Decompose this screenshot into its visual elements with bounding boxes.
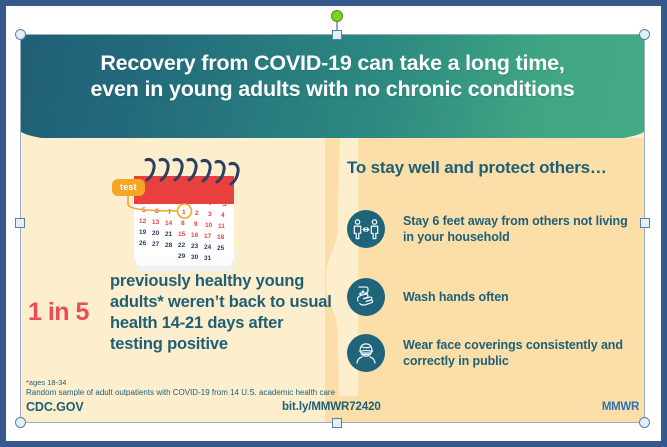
- left-column: test: [20, 138, 340, 422]
- svg-text:2: 2: [195, 210, 199, 217]
- calendar-illustration: test: [106, 152, 266, 284]
- header-line-2: even in young adults with no chronic con…: [32, 76, 633, 102]
- svg-text:F: F: [209, 200, 214, 207]
- footnote-ages: *ages 18-34: [26, 378, 356, 388]
- stat-number: 1 in 5: [28, 298, 89, 327]
- svg-text:30: 30: [191, 254, 199, 261]
- svg-text:3: 3: [208, 211, 212, 218]
- application-window: Recovery from COVID-19 can take a long t…: [0, 0, 667, 447]
- page-title: Recovery from COVID-19 can take a long t…: [20, 50, 645, 102]
- resize-handle-top-left[interactable]: [15, 29, 26, 40]
- resize-handle-bottom-left[interactable]: [15, 417, 26, 428]
- selection-edge-right: [644, 34, 645, 423]
- tip-face-covering-text: Wear face coverings consistently and cor…: [403, 337, 641, 370]
- svg-text:7: 7: [168, 209, 172, 216]
- svg-text:23: 23: [191, 243, 199, 250]
- resize-handle-bottom-center[interactable]: [332, 418, 342, 428]
- svg-text:9: 9: [194, 221, 198, 228]
- svg-text:19: 19: [139, 229, 147, 236]
- resize-handle-bottom-right[interactable]: [639, 417, 650, 428]
- header-line-1: Recovery from COVID-19 can take a long t…: [100, 51, 564, 75]
- calendar-icon: SMT WTF S 12 34 567 89 1: [106, 152, 266, 284]
- svg-text:6: 6: [155, 208, 159, 215]
- resize-handle-middle-right[interactable]: [640, 218, 650, 228]
- svg-text:20: 20: [152, 230, 160, 237]
- body-area: test: [20, 138, 645, 422]
- tip-face-covering: Wear face coverings consistently and cor…: [347, 334, 641, 372]
- svg-text:25: 25: [217, 245, 225, 252]
- svg-text:S: S: [222, 201, 227, 208]
- svg-text:13: 13: [152, 219, 160, 226]
- svg-text:31: 31: [204, 255, 212, 262]
- svg-text:29: 29: [178, 253, 186, 260]
- svg-text:27: 27: [152, 241, 160, 248]
- svg-text:26: 26: [139, 240, 147, 247]
- selection-edge-left: [20, 34, 21, 423]
- short-link-label[interactable]: bit.ly/MMWR72420: [282, 401, 381, 413]
- face-mask-icon: [347, 334, 385, 372]
- svg-text:16: 16: [191, 232, 199, 239]
- svg-text:10: 10: [205, 222, 213, 229]
- svg-text:T: T: [169, 197, 174, 204]
- tip-social-distance: Stay 6 feet away from others not living …: [347, 210, 641, 248]
- svg-text:14: 14: [165, 220, 173, 227]
- svg-text:18: 18: [217, 234, 225, 241]
- svg-text:22: 22: [178, 242, 186, 249]
- svg-text:17: 17: [204, 233, 212, 240]
- svg-text:12: 12: [139, 218, 147, 225]
- svg-text:8: 8: [181, 220, 185, 227]
- test-badge-label: test: [112, 179, 145, 196]
- svg-text:T: T: [196, 199, 201, 206]
- svg-text:M: M: [156, 196, 162, 203]
- covid-infographic-image[interactable]: Recovery from COVID-19 can take a long t…: [20, 34, 645, 422]
- svg-text:24: 24: [204, 244, 212, 251]
- svg-text:1: 1: [182, 209, 186, 216]
- stat-description: previously healthy young adults* weren’t…: [110, 271, 338, 355]
- svg-text:4: 4: [221, 212, 225, 219]
- right-column-heading: To stay well and protect others…: [347, 158, 637, 178]
- svg-text:S: S: [143, 195, 148, 202]
- header-band: Recovery from COVID-19 can take a long t…: [20, 34, 645, 152]
- resize-handle-top-center[interactable]: [332, 30, 342, 40]
- svg-text:21: 21: [165, 231, 173, 238]
- resize-handle-middle-left[interactable]: [15, 218, 25, 228]
- rotation-handle[interactable]: [331, 10, 343, 22]
- mmwr-logo: MMWR: [602, 401, 639, 413]
- resize-handle-top-right[interactable]: [639, 29, 650, 40]
- right-column: To stay well and protect others…: [325, 138, 645, 422]
- svg-text:28: 28: [165, 242, 173, 249]
- svg-text:15: 15: [178, 231, 186, 238]
- cdc-gov-label: CDC.GOV: [26, 400, 84, 414]
- svg-text:11: 11: [218, 223, 225, 230]
- tip-wash-hands: Wash hands often: [347, 278, 641, 316]
- tip-social-distance-text: Stay 6 feet away from others not living …: [403, 213, 641, 246]
- social-distance-icon: [347, 210, 385, 248]
- tip-wash-hands-text: Wash hands often: [403, 289, 509, 305]
- wash-hands-icon: [347, 278, 385, 316]
